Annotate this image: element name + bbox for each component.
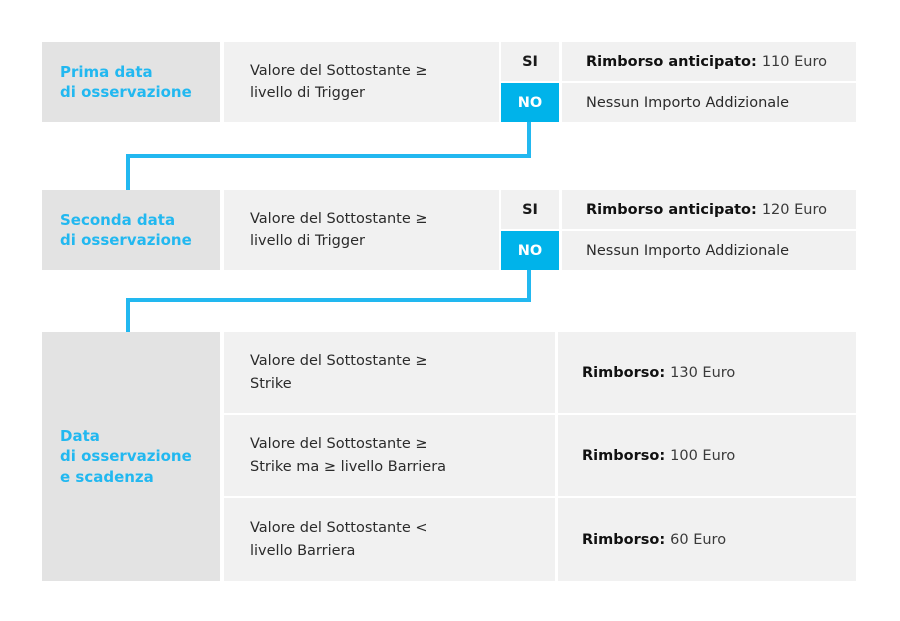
block-seconda-data-label-line1: Seconda data (60, 210, 175, 230)
block-data-scadenza-label-line2: di osservazione (60, 446, 192, 466)
block-data-scadenza-row-3-outcome: Rimborso:60 Euro (558, 498, 856, 581)
outcome-value: 130 Euro (670, 365, 735, 381)
block-seconda-data-answer-no[interactable]: NO (501, 231, 559, 270)
connector-2-horizontal (126, 298, 531, 302)
block-data-scadenza-row-3-condition: Valore del Sottostante < livello Barrier… (224, 498, 555, 581)
block-seconda-data-outcome-no: Nessun Importo Addizionale (562, 231, 856, 270)
answer-no-label: NO (518, 243, 542, 259)
block-seconda-data-outcome-si: Rimborso anticipato:120 Euro (562, 190, 856, 229)
block-prima-data-answer-si[interactable]: SI (501, 42, 559, 81)
condition-line2: Strike ma ≥ livello Barriera (250, 456, 446, 478)
block-prima-data-condition: Valore del Sottostante ≥ livello di Trig… (224, 42, 499, 122)
outcome-si-label: Rimborso anticipato: (586, 202, 757, 218)
answer-si-label: SI (522, 54, 538, 70)
outcome-label: Rimborso: (582, 365, 665, 381)
outcome-si-value: 120 Euro (762, 202, 827, 218)
outcome-value: 60 Euro (670, 532, 726, 548)
connector-1-vertical-into-block (126, 154, 130, 192)
block-seconda-data-answer-si[interactable]: SI (501, 190, 559, 229)
block-seconda-data-label-line2: di osservazione (60, 230, 192, 250)
block-data-scadenza-row-1-condition: Valore del Sottostante ≥ Strike (224, 332, 555, 413)
block-data-scadenza-label: Data di osservazione e scadenza (42, 332, 220, 581)
block-prima-data-outcome-si: Rimborso anticipato:110 Euro (562, 42, 856, 81)
answer-si-label: SI (522, 202, 538, 218)
block-prima-data-label: Prima data di osservazione (42, 42, 220, 122)
condition-line1: Valore del Sottostante < (250, 517, 428, 539)
block-seconda-data-condition-line2: livello di Trigger (250, 230, 365, 252)
block-seconda-data-condition: Valore del Sottostante ≥ livello di Trig… (224, 190, 499, 270)
connector-1-vertical-down (527, 122, 531, 158)
block-prima-data-condition-line2: livello di Trigger (250, 82, 365, 104)
block-data-scadenza-label-line1: Data (60, 426, 100, 446)
block-seconda-data-condition-line1: Valore del Sottostante ≥ (250, 208, 428, 230)
outcome-label: Rimborso: (582, 532, 665, 548)
block-prima-data-outcome-no: Nessun Importo Addizionale (562, 83, 856, 122)
outcome-si-value: 110 Euro (762, 54, 827, 70)
outcome-label: Rimborso: (582, 448, 665, 464)
condition-line1: Valore del Sottostante ≥ (250, 350, 428, 372)
block-prima-data-answer-no[interactable]: NO (501, 83, 559, 122)
block-prima-data-label-line1: Prima data (60, 62, 153, 82)
outcome-no-label: Nessun Importo Addizionale (586, 243, 789, 259)
block-prima-data-condition-line1: Valore del Sottostante ≥ (250, 60, 428, 82)
outcome-si-label: Rimborso anticipato: (586, 54, 757, 70)
connector-1-horizontal (126, 154, 531, 158)
outcome-value: 100 Euro (670, 448, 735, 464)
outcome-no-label: Nessun Importo Addizionale (586, 95, 789, 111)
block-seconda-data-label: Seconda data di osservazione (42, 190, 220, 270)
condition-line2: livello Barriera (250, 540, 355, 562)
block-data-scadenza-row-2-condition: Valore del Sottostante ≥ Strike ma ≥ liv… (224, 415, 555, 496)
flowchart-diagram: Prima data di osservazione Valore del So… (0, 0, 900, 621)
block-data-scadenza-label-line3: e scadenza (60, 467, 154, 487)
block-data-scadenza-row-1-outcome: Rimborso:130 Euro (558, 332, 856, 413)
condition-line1: Valore del Sottostante ≥ (250, 433, 428, 455)
block-data-scadenza-row-2-outcome: Rimborso:100 Euro (558, 415, 856, 496)
block-prima-data-label-line2: di osservazione (60, 82, 192, 102)
connector-2-vertical-into-block (126, 298, 130, 334)
condition-line2: Strike (250, 373, 292, 395)
answer-no-label: NO (518, 95, 542, 111)
